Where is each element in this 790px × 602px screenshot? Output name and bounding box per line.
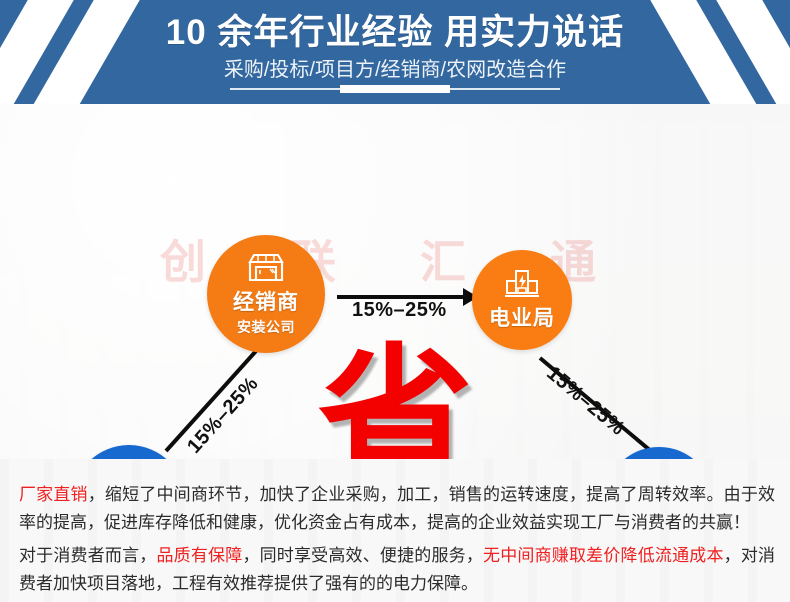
header-divider-accent: [340, 85, 450, 93]
header-subtitle: 采购/投标/项目方/经销商/农网改造合作: [0, 57, 790, 83]
footer-paragraph-1-rest: ，缩短了中间商环节，加快了企业采购，加工，销售的运转速度，提高了周转效率。由于效…: [19, 485, 775, 532]
node-power-bureau-label: 电业局: [489, 302, 555, 332]
storefront-icon: [246, 252, 286, 284]
header-title: 10 余年行业经验 用实力说话: [0, 11, 790, 55]
footer-paragraph-1: 厂家直销，缩短了中间商环节，加快了企业采购，加工，销售的运转速度，提高了周转效率…: [19, 481, 775, 537]
save-glyph: 省: [318, 342, 473, 459]
brand-watermark: 创 联 汇 通: [0, 226, 790, 292]
node-dealer-label: 经销商: [233, 286, 299, 316]
footer-paragraph-2: 对于消费者而言，品质有保障，同时享受高效、便捷的服务，无中间商赚取差价降低流通成…: [19, 542, 775, 598]
footer-highlight-no-middleman: 无中间商赚取差价降低流通成本: [483, 546, 724, 565]
footer-highlight-factory-direct: 厂家直销: [19, 485, 88, 504]
node-power-bureau[interactable]: 电业局: [472, 250, 572, 350]
node-dealer-sublabel: 安装公司: [237, 317, 295, 337]
header-divider: [230, 88, 560, 90]
arrow-label-dealer-to-bureau: 15%–25%: [352, 299, 447, 322]
footer-paragraph-2-lead: 对于消费者而言，: [19, 546, 157, 565]
node-dealer[interactable]: 经销商 安装公司: [207, 235, 325, 353]
promo-banner: 10 余年行业经验 用实力说话 采购/投标/项目方/经销商/农网改造合作 创 联…: [0, 0, 790, 602]
footer-highlight-quality: 品质有保障: [157, 546, 243, 565]
footer-description: 厂家直销，缩短了中间商环节，加快了企业采购，加工，销售的运转速度，提高了周转效率…: [0, 459, 790, 602]
footer-paragraph-2-middle: ，同时享受高效、便捷的服务，: [242, 546, 483, 565]
flow-diagram: 创 联 汇 通 省 15%–25% 15%–25% 15%–25%: [0, 104, 790, 459]
power-building-icon: [503, 268, 541, 300]
banner-header: 10 余年行业经验 用实力说话 采购/投标/项目方/经销商/农网改造合作: [0, 0, 790, 104]
